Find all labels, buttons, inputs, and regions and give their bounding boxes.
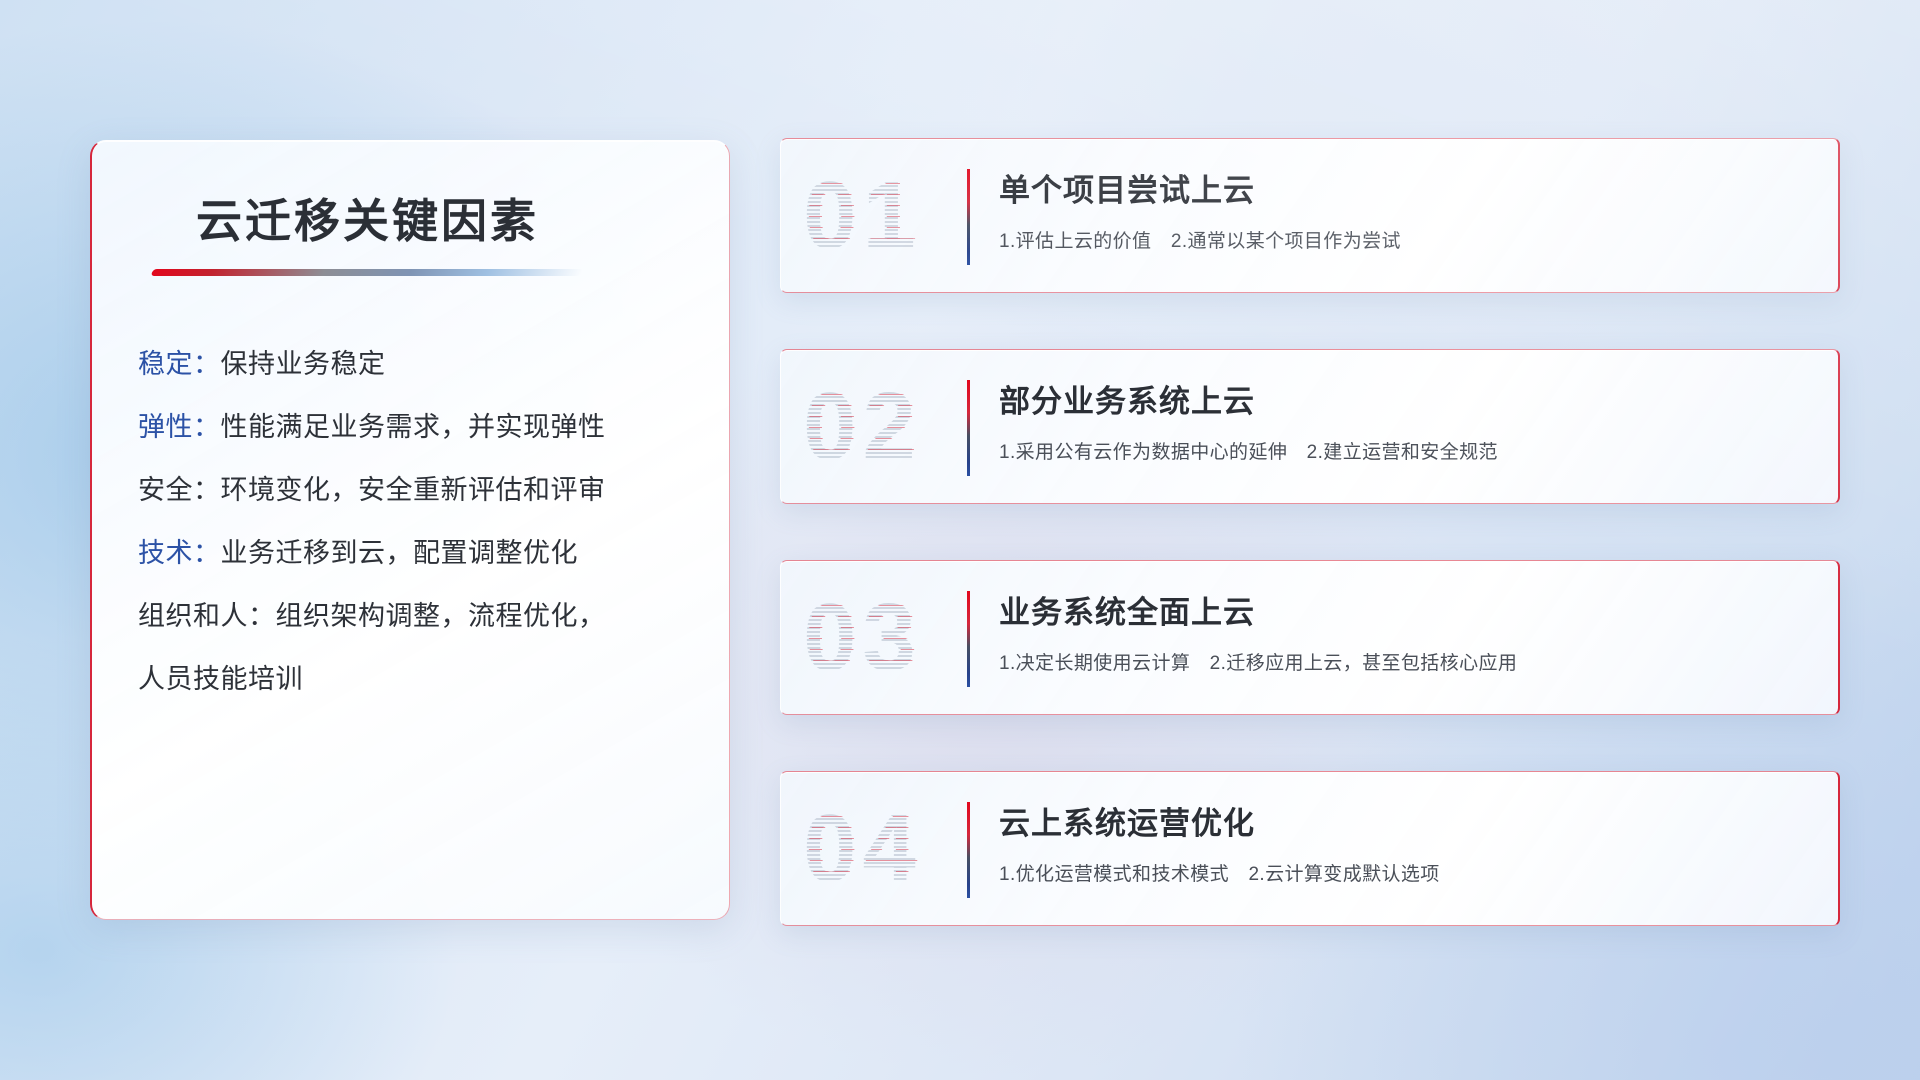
key-factors-panel: 云迁移关键因素 稳定：保持业务稳定 弹性：性能满足业务需求，并实现弹性 安全：环… [90, 140, 730, 920]
factor-text: 性能满足业务需求，并实现弹性 [221, 412, 606, 442]
stage-card[interactable]: 04 04 云上系统运营优化 1.优化运营模式和技术模式 2.云计算变成默认选项 [780, 771, 1840, 926]
list-item: 技术：业务迁移到云，配置调整优化 [138, 540, 705, 567]
list-item: 稳定：保持业务稳定 [138, 351, 705, 378]
stage-subtitle: 1.优化运营模式和技术模式 2.云计算变成默认选项 [999, 859, 1818, 886]
stage-card-body: 单个项目尝试上云 1.评估上云的价值 2.通常以某个项目作为尝试 [999, 165, 1818, 253]
accent-bar [967, 380, 970, 476]
stage-subtitle: 1.评估上云的价值 2.通常以某个项目作为尝试 [999, 226, 1818, 253]
stage-title: 部分业务系统上云 [999, 376, 1818, 421]
stage-card[interactable]: 03 03 业务系统全面上云 1.决定长期使用云计算 2.迁移应用上云，甚至包括… [780, 560, 1840, 715]
stage-title: 业务系统全面上云 [999, 587, 1818, 632]
factor-text: 人员技能培训 [138, 664, 303, 694]
stage-card-body: 部分业务系统上云 1.采用公有云作为数据中心的延伸 2.建立运营和安全规范 [999, 376, 1818, 464]
stage-title: 单个项目尝试上云 [999, 165, 1818, 210]
list-item-continuation: 人员技能培训 [138, 666, 705, 693]
list-item: 组织和人：组织架构调整，流程优化， [138, 603, 705, 630]
stage-number: 02 [803, 372, 922, 482]
accent-bar [967, 169, 970, 265]
factor-label: 技术： [138, 538, 221, 568]
stage-subtitle: 1.采用公有云作为数据中心的延伸 2.建立运营和安全规范 [999, 437, 1818, 464]
factor-text: 组织架构调整，流程优化， [276, 601, 606, 631]
stage-card-body: 云上系统运营优化 1.优化运营模式和技术模式 2.云计算变成默认选项 [999, 798, 1818, 886]
slide-canvas: 云迁移关键因素 稳定：保持业务稳定 弹性：性能满足业务需求，并实现弹性 安全：环… [0, 0, 1920, 1080]
factor-label: 弹性： [138, 412, 221, 442]
factor-text: 环境变化，安全重新评估和评审 [221, 475, 606, 505]
list-item: 安全：环境变化，安全重新评估和评审 [138, 477, 705, 504]
factor-text: 保持业务稳定 [221, 349, 386, 379]
stage-title: 云上系统运营优化 [999, 798, 1818, 843]
stage-card-body: 业务系统全面上云 1.决定长期使用云计算 2.迁移应用上云，甚至包括核心应用 [999, 587, 1818, 675]
stage-subtitle: 1.决定长期使用云计算 2.迁移应用上云，甚至包括核心应用 [999, 648, 1818, 675]
page-title: 云迁移关键因素 [196, 185, 539, 251]
stage-number: 03 [803, 583, 922, 693]
factor-label: 组织和人： [138, 601, 276, 631]
factor-label: 稳定： [138, 349, 221, 379]
factor-label: 安全： [138, 475, 221, 505]
accent-bar [967, 802, 970, 898]
stage-number: 01 [803, 161, 922, 271]
list-item: 弹性：性能满足业务需求，并实现弹性 [138, 414, 705, 441]
stage-card[interactable]: 02 02 部分业务系统上云 1.采用公有云作为数据中心的延伸 2.建立运营和安… [780, 349, 1840, 504]
title-underline-rule [151, 269, 584, 276]
factor-list: 稳定：保持业务稳定 弹性：性能满足业务需求，并实现弹性 安全：环境变化，安全重新… [138, 351, 705, 693]
stage-card[interactable]: 01 01 单个项目尝试上云 1.评估上云的价值 2.通常以某个项目作为尝试 [780, 138, 1840, 293]
stage-card-list: 01 01 单个项目尝试上云 1.评估上云的价值 2.通常以某个项目作为尝试 0… [780, 138, 1840, 926]
accent-bar [967, 591, 970, 687]
factor-text: 业务迁移到云，配置调整优化 [221, 538, 579, 568]
stage-number: 04 [803, 794, 922, 904]
